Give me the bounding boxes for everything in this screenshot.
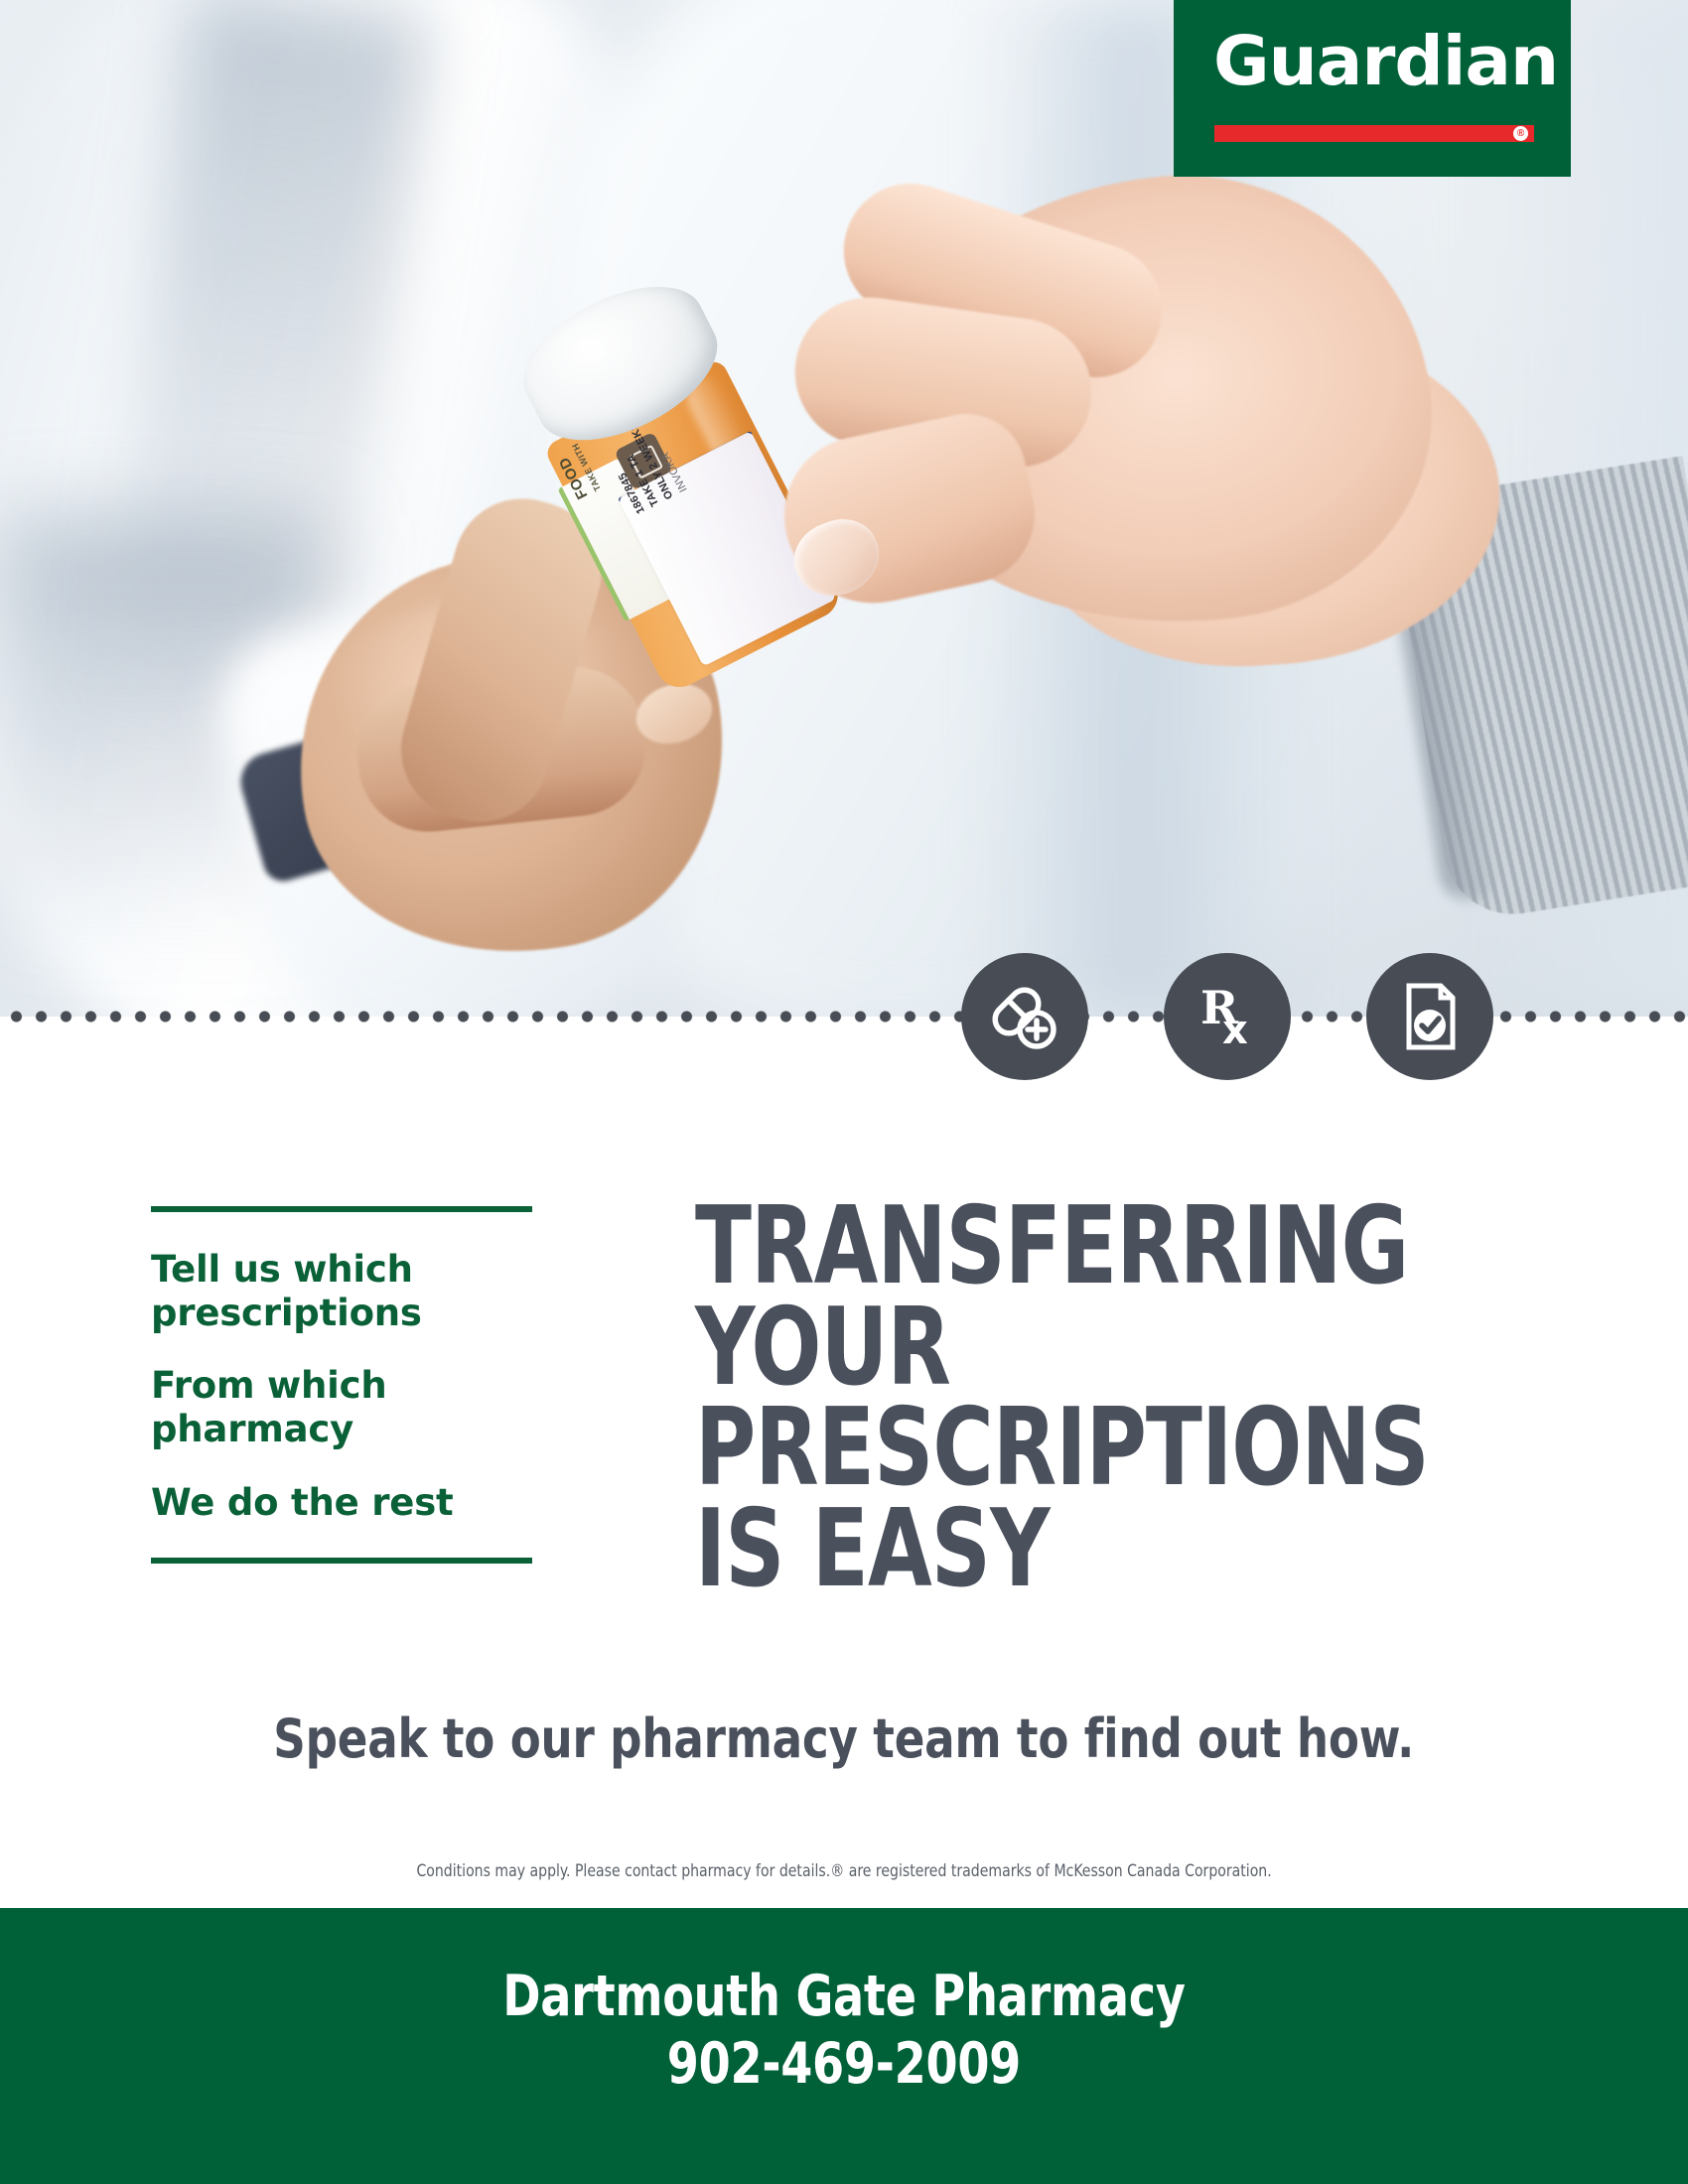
footer-bar: Dartmouth Gate Pharmacy 902-469-2009 <box>0 1908 1688 2184</box>
rx-icon: R x <box>1164 953 1291 1080</box>
headline-line-1: TRANSFERRING <box>695 1196 1430 1297</box>
benefit-item-3: We do the rest <box>151 1481 532 1525</box>
benefit-list: Tell us which prescriptions From which p… <box>151 1206 532 1564</box>
pills-plus-icon <box>961 953 1088 1080</box>
logo-wordmark: Guardian <box>1213 28 1558 96</box>
registered-trademark-icon: ® <box>1513 126 1528 141</box>
legal-fineprint: Conditions may apply. Please contact pha… <box>0 1861 1688 1881</box>
poster-root: FOOD TAKE WITH 1867845 TAKE 1 TA ONLY 2 … <box>0 0 1688 2184</box>
logo-red-bar: ® <box>1214 125 1534 142</box>
headline-line-4: IS EASY <box>695 1499 1430 1600</box>
headline-line-2: YOUR <box>695 1297 1430 1399</box>
subheadline-text: Speak to our pharmacy team to find out h… <box>274 1707 1415 1770</box>
pharmacy-name: Dartmouth Gate Pharmacy <box>0 1968 1688 2027</box>
document-check-icon <box>1366 953 1493 1080</box>
divider-rule-bottom <box>151 1558 532 1564</box>
svg-text:x: x <box>1222 1008 1248 1053</box>
pharmacy-phone[interactable]: 902-469-2009 <box>0 2035 1688 2095</box>
headline-line-3: PRESCRIPTIONS <box>695 1398 1430 1499</box>
subheadline: Speak to our pharmacy team to find out h… <box>0 1707 1688 1770</box>
guardian-logo: Guardian ® <box>1174 0 1571 177</box>
pharmacy-name-text: Dartmouth Gate Pharmacy <box>502 1968 1185 2027</box>
divider-rule-top <box>151 1206 532 1212</box>
headline: TRANSFERRING YOUR PRESCRIPTIONS IS EASY <box>695 1196 1430 1599</box>
benefit-item-2: From which pharmacy <box>151 1364 532 1450</box>
pharmacy-phone-text: 902-469-2009 <box>667 2035 1021 2095</box>
benefit-item-1: Tell us which prescriptions <box>151 1248 532 1334</box>
legal-fineprint-text: Conditions may apply. Please contact pha… <box>416 1861 1271 1881</box>
